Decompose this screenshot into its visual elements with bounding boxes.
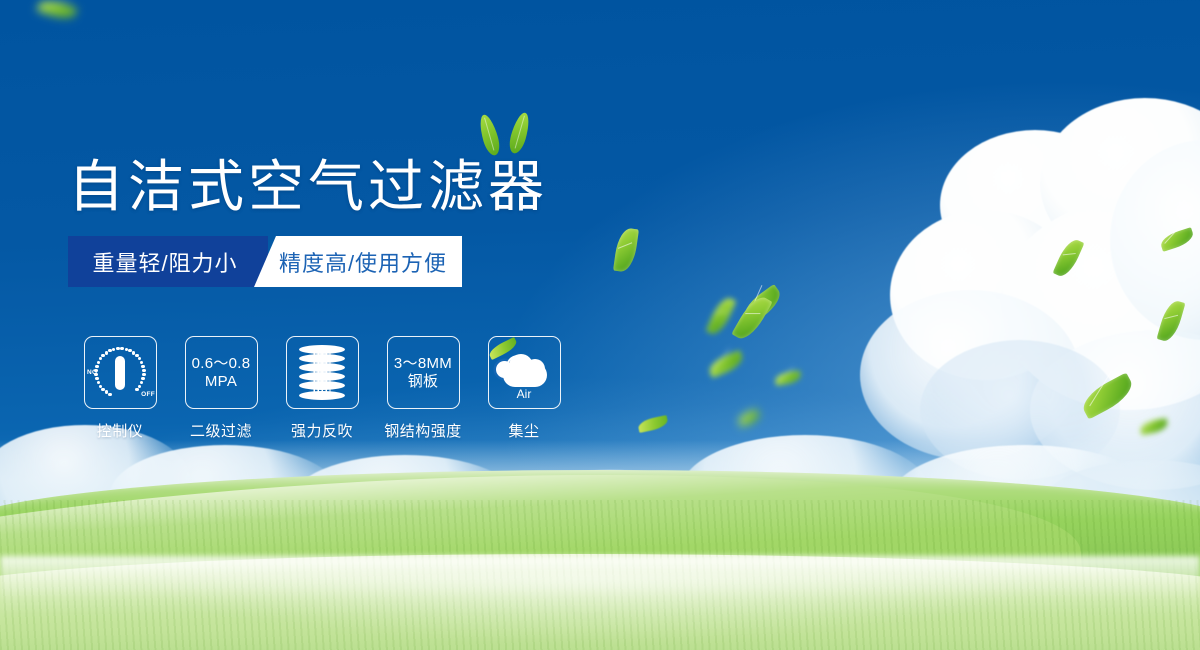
feature-icon-box: 0.6～0.8 MPA [185, 336, 258, 409]
gauge-tick-dot [97, 381, 100, 384]
feature-list: NO OFF 控制仪 0.6～0.8 MPA 二级过滤 [76, 336, 568, 441]
gauge-tick-dot [142, 369, 145, 372]
feature-label: 集尘 [508, 420, 539, 441]
gauge-tick-dot [112, 348, 115, 351]
gauge-pointer [115, 356, 125, 390]
gauge-tick-dot [142, 373, 145, 376]
gauge-tick-dot [95, 377, 98, 380]
feature-item-secondary-filter[interactable]: 0.6～0.8 MPA 二级过滤 [177, 336, 265, 441]
gauge-tick-dot [116, 347, 119, 350]
subtitle-right-text: 精度高/使用方便 [269, 246, 447, 278]
feature-label: 强力反吹 [291, 420, 353, 441]
gauge-tick-dot [99, 357, 102, 360]
cloud-body [503, 363, 547, 387]
gauge-tick-dot [108, 393, 111, 396]
gauge-tick-dot [140, 381, 143, 384]
gauge-tick-dot [95, 365, 98, 368]
feature-icon-box: Air [488, 336, 561, 409]
gauge-tick-dot [135, 354, 138, 357]
page-title: 自洁式空气过滤器 [68, 142, 548, 223]
gauge-dial-icon: NO OFF [91, 344, 149, 402]
gauge-off-label: OFF [141, 391, 155, 398]
gauge-tick-dot [97, 361, 100, 364]
gauge-tick-dot [105, 351, 108, 354]
feature-item-backblow[interactable]: 强力反吹 [278, 336, 366, 441]
gauge-tick-dot [141, 365, 144, 368]
feature-label: 控制仪 [97, 420, 144, 441]
gauge-tick-dot [141, 377, 144, 380]
cloud-air-icon: Air [494, 347, 554, 399]
filter-stack-icon [297, 345, 347, 401]
gauge-tick-dot [138, 357, 141, 360]
gauge-tick-dot [125, 348, 128, 351]
subtitle-left-text: 重量轻/阻力小 [92, 246, 243, 278]
subtitle-right-block: 精度高/使用方便 [254, 236, 462, 287]
feature-label: 二级过滤 [190, 420, 252, 441]
feature-label: 钢结构强度 [384, 420, 462, 441]
subtitle-left-block: 重量轻/阻力小 [68, 236, 268, 287]
steel-plate-text-icon: 3～8MM 钢板 [394, 355, 452, 391]
gauge-tick-dot [120, 347, 123, 350]
feature-icon-box: NO OFF [84, 336, 157, 409]
feature-item-controller[interactable]: NO OFF 控制仪 [76, 336, 164, 441]
gauge-tick-dot [135, 388, 138, 391]
pressure-text-icon: 0.6～0.8 MPA [192, 355, 251, 391]
cloud-air-label: Air [494, 387, 554, 401]
gauge-no-label: NO [87, 369, 97, 376]
feature-item-dust-collection[interactable]: Air 集尘 [480, 336, 568, 441]
gauge-tick-dot [140, 361, 143, 364]
gauge-tick-dot [138, 385, 141, 388]
gauge-tick-dot [101, 354, 104, 357]
feature-item-steel-strength[interactable]: 3～8MM 钢板 钢结构强度 [379, 336, 467, 441]
feature-icon-box: 3～8MM 钢板 [387, 336, 460, 409]
subtitle-bar: 重量轻/阻力小 精度高/使用方便 [68, 236, 462, 287]
grass-path-highlight [120, 572, 1056, 642]
gauge-tick-dot [108, 349, 111, 352]
feature-icon-box [286, 336, 359, 409]
product-hero-banner: 自洁式空气过滤器 重量轻/阻力小 精度高/使用方便 NO OFF 控制仪 0.6… [0, 0, 1200, 650]
